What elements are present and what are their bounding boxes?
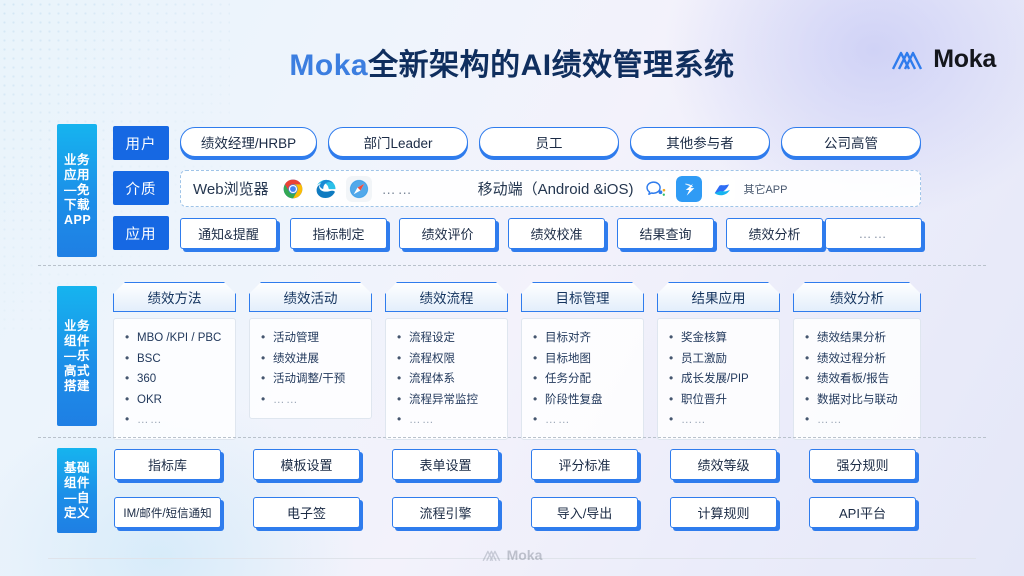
moka-logo-text: Moka [933, 45, 996, 74]
card-item-list: 流程设定 流程权限 流程体系 流程异常监控 …… [396, 328, 499, 431]
list-item: …… [668, 410, 771, 431]
list-item: 目标对齐 [532, 328, 635, 349]
list-item: …… [804, 410, 912, 431]
card-title: 结果应用 [657, 282, 780, 312]
card-item-list: MBO /KPI / PBC BSC 360 OKR …… [124, 328, 227, 431]
base-box-form-setting[interactable]: 表单设置 [392, 449, 499, 480]
component-card-result-application: 结果应用 奖金核算 员工激励 成长发展/PIP 职位晋升 …… [657, 282, 780, 440]
component-card-performance-analysis: 绩效分析 绩效结果分析 绩效过程分析 绩效看板/报告 数据对比与联动 …… [793, 282, 921, 440]
moka-mountain-logo-icon [891, 49, 925, 71]
list-item: 成长发展/PIP [668, 369, 771, 390]
list-item: 绩效结果分析 [804, 328, 912, 349]
moka-logo: Moka [891, 45, 996, 74]
page-title: Moka全新架构的AI绩效管理系统 [0, 40, 1024, 84]
card-body: 流程设定 流程权限 流程体系 流程异常监控 …… [385, 318, 508, 440]
list-item: OKR [124, 390, 227, 411]
separator-2 [38, 437, 986, 438]
slide-header: Moka全新架构的AI绩效管理系统 Moka [0, 0, 1024, 108]
list-item: 绩效过程分析 [804, 349, 912, 370]
app-box-performance-analysis[interactable]: 绩效分析 [726, 218, 823, 249]
list-item: 活动管理 [260, 328, 363, 349]
app-box-more[interactable]: …… [825, 218, 922, 249]
base-box-e-signature[interactable]: 电子签 [253, 497, 360, 528]
list-item: 绩效看板/报告 [804, 369, 912, 390]
row-tag-medium: 介质 [113, 171, 169, 205]
base-box-process-engine[interactable]: 流程引擎 [392, 497, 499, 528]
base-box-im-email-sms-notification[interactable]: IM/邮件/短信通知 [114, 497, 221, 528]
base-box-indicator-library[interactable]: 指标库 [114, 449, 221, 480]
list-item: 任务分配 [532, 369, 635, 390]
list-item: MBO /KPI / PBC [124, 328, 227, 349]
slide-canvas: Moka全新架构的AI绩效管理系统 Moka 业务应用—免下载APP 用户 介质… [0, 0, 1024, 576]
app-box-performance-evaluation[interactable]: 绩效评价 [399, 218, 496, 249]
list-item: BSC [124, 349, 227, 370]
list-item: 流程权限 [396, 349, 499, 370]
feishu-icon [709, 176, 735, 202]
user-pill-executives[interactable]: 公司高管 [781, 127, 921, 157]
card-body: 目标对齐 目标地图 任务分配 阶段性复盘 …… [521, 318, 644, 440]
list-item: 奖金核算 [668, 328, 771, 349]
list-item: 目标地图 [532, 349, 635, 370]
card-title: 绩效流程 [385, 282, 508, 312]
base-box-calculation-rule[interactable]: 计算规则 [670, 497, 777, 528]
app-box-result-query[interactable]: 结果查询 [617, 218, 714, 249]
safari-icon [346, 176, 372, 202]
base-box-api-platform[interactable]: API平台 [809, 497, 916, 528]
footer-logo-text: Moka [507, 547, 543, 563]
separator-1 [38, 265, 986, 266]
card-title: 目标管理 [521, 282, 644, 312]
list-item: 活动调整/干预 [260, 369, 363, 390]
app-box-performance-calibration[interactable]: 绩效校准 [508, 218, 605, 249]
base-box-template-setting[interactable]: 模板设置 [253, 449, 360, 480]
list-item: 数据对比与联动 [804, 390, 912, 411]
chrome-icon [280, 176, 306, 202]
card-item-list: 绩效结果分析 绩效过程分析 绩效看板/报告 数据对比与联动 …… [804, 328, 912, 431]
list-item: 阶段性复盘 [532, 390, 635, 411]
card-body: 奖金核算 员工激励 成长发展/PIP 职位晋升 …… [657, 318, 780, 440]
user-pill-other-participants[interactable]: 其他参与者 [630, 127, 770, 157]
footer-logo: Moka [0, 547, 1024, 563]
web-more-ellipsis: …… [382, 181, 414, 197]
page-title-brand: Moka [289, 49, 368, 82]
card-item-list: 目标对齐 目标地图 任务分配 阶段性复盘 …… [532, 328, 635, 431]
page-title-rest: 全新架构的AI绩效管理系统 [368, 49, 735, 82]
base-box-performance-grade[interactable]: 绩效等级 [670, 449, 777, 480]
sidebar-label-business-app: 业务应用—免下载APP [57, 124, 97, 257]
component-card-performance-method: 绩效方法 MBO /KPI / PBC BSC 360 OKR …… [113, 282, 236, 440]
list-item: 绩效进展 [260, 349, 363, 370]
wechat-work-icon [643, 176, 669, 202]
row-tag-user: 用户 [113, 126, 169, 160]
medium-strip: Web浏览器 …… 移动端（Android &iO [180, 170, 921, 207]
list-item: …… [396, 410, 499, 431]
component-card-goal-management: 目标管理 目标对齐 目标地图 任务分配 阶段性复盘 …… [521, 282, 644, 440]
moka-mountain-logo-icon [482, 549, 502, 562]
app-box-notification-reminder[interactable]: 通知&提醒 [180, 218, 277, 249]
card-item-list: 活动管理 绩效进展 活动调整/干预 …… [260, 328, 363, 410]
card-title: 绩效活动 [249, 282, 372, 312]
user-pill-department-leader[interactable]: 部门Leader [328, 127, 468, 157]
user-pill-performance-manager[interactable]: 绩效经理/HRBP [180, 127, 317, 157]
app-box-indicator-setting[interactable]: 指标制定 [290, 218, 387, 249]
sidebar-label-business-component: 业务组件—乐高式搭建 [57, 286, 97, 426]
list-item: …… [124, 410, 227, 431]
component-card-performance-activity: 绩效活动 活动管理 绩效进展 活动调整/干预 …… [249, 282, 372, 419]
base-box-forced-distribution-rule[interactable]: 强分规则 [809, 449, 916, 480]
component-card-performance-process: 绩效流程 流程设定 流程权限 流程体系 流程异常监控 …… [385, 282, 508, 440]
list-item: 流程设定 [396, 328, 499, 349]
mobile-more-apps-label: 其它APP [743, 181, 787, 197]
card-body: MBO /KPI / PBC BSC 360 OKR …… [113, 318, 236, 440]
base-box-import-export[interactable]: 导入/导出 [531, 497, 638, 528]
card-title: 绩效方法 [113, 282, 236, 312]
list-item: 员工激励 [668, 349, 771, 370]
edge-icon [313, 176, 339, 202]
base-box-scoring-standard[interactable]: 评分标准 [531, 449, 638, 480]
card-item-list: 奖金核算 员工激励 成长发展/PIP 职位晋升 …… [668, 328, 771, 431]
row-tag-application: 应用 [113, 216, 169, 250]
mobile-label: 移动端（Android &iOS) [478, 178, 634, 199]
list-item: 流程异常监控 [396, 390, 499, 411]
card-body: 活动管理 绩效进展 活动调整/干预 …… [249, 318, 372, 419]
list-item: …… [532, 410, 635, 431]
list-item: 360 [124, 369, 227, 390]
dingtalk-icon [676, 176, 702, 202]
sidebar-label-base-component: 基础组件—自定义 [57, 448, 97, 533]
list-item: …… [260, 390, 363, 411]
list-item: 职位晋升 [668, 390, 771, 411]
card-title: 绩效分析 [793, 282, 921, 312]
list-item: 流程体系 [396, 369, 499, 390]
user-pill-employee[interactable]: 员工 [479, 127, 619, 157]
web-browser-label: Web浏览器 [193, 178, 269, 199]
card-body: 绩效结果分析 绩效过程分析 绩效看板/报告 数据对比与联动 …… [793, 318, 921, 440]
